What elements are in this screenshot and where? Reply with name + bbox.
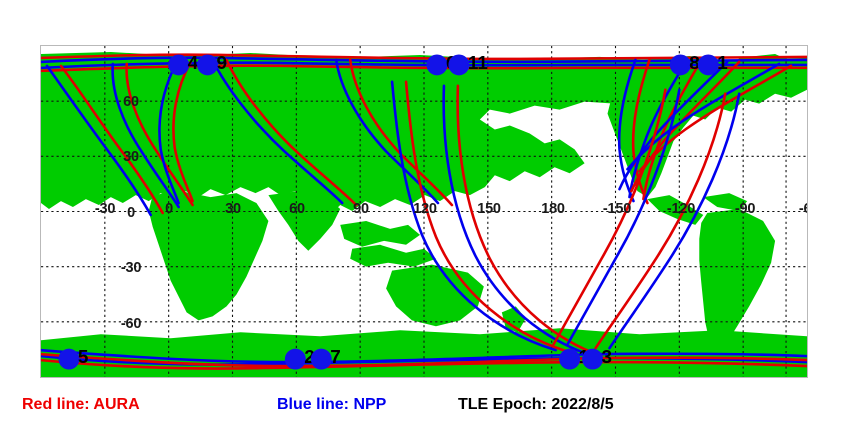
ground-track-map-figure: 4961181527103 -300306090120150180-150-12… xyxy=(0,0,850,425)
satellite-marker-10[interactable] xyxy=(559,349,580,370)
xtick-label-120: 120 xyxy=(413,201,437,217)
satellite-marker-label-3: 3 xyxy=(602,347,613,368)
satellite-marker-7[interactable] xyxy=(311,349,332,370)
xtick-label--150: -150 xyxy=(603,201,631,217)
ytick-label-60: 60 xyxy=(123,94,139,110)
map-legend: Red line: AURA Blue line: NPP TLE Epoch:… xyxy=(0,390,850,425)
xtick-label--30: -30 xyxy=(95,201,115,217)
satellite-marker-5[interactable] xyxy=(58,349,79,370)
satellite-marker-8[interactable] xyxy=(670,54,691,75)
legend-tle-epoch: TLE Epoch: 2022/8/5 xyxy=(458,396,614,414)
xtick-label--90: -90 xyxy=(735,201,755,217)
satellite-marker-11[interactable] xyxy=(448,54,469,75)
satellite-marker-label-7: 7 xyxy=(330,347,341,368)
xtick-label-180: 180 xyxy=(541,201,565,217)
satellite-marker-6[interactable] xyxy=(426,54,447,75)
satellite-marker-3[interactable] xyxy=(582,349,603,370)
xtick-label--60: -60 xyxy=(799,201,808,217)
xtick-label-90: 90 xyxy=(353,201,369,217)
ytick-label--60: -60 xyxy=(121,316,141,332)
satellite-marker-4[interactable] xyxy=(168,54,189,75)
satellite-marker-label-5: 5 xyxy=(78,347,89,368)
satellite-marker-label-4: 4 xyxy=(188,53,199,74)
xtick-label--120: -120 xyxy=(667,201,695,217)
ytick-label-0: 0 xyxy=(127,205,135,221)
map-plot-area: 4961181527103 -300306090120150180-150-12… xyxy=(40,45,808,378)
legend-blue-line: Blue line: NPP xyxy=(277,396,386,414)
xtick-label-0: 0 xyxy=(165,201,173,217)
satellite-marker-label-1: 1 xyxy=(717,53,728,74)
ytick-label-30: 30 xyxy=(123,149,139,165)
satellite-marker-label-9: 9 xyxy=(217,53,228,74)
satellite-marker-9[interactable] xyxy=(197,54,218,75)
legend-red-line: Red line: AURA xyxy=(22,396,140,414)
ytick-label--30: -30 xyxy=(121,260,141,276)
xtick-label-150: 150 xyxy=(477,201,501,217)
xtick-label-60: 60 xyxy=(289,201,305,217)
satellite-marker-label-11: 11 xyxy=(468,53,488,74)
satellite-marker-1[interactable] xyxy=(698,54,719,75)
satellite-marker-2[interactable] xyxy=(285,349,306,370)
xtick-label-30: 30 xyxy=(225,201,241,217)
